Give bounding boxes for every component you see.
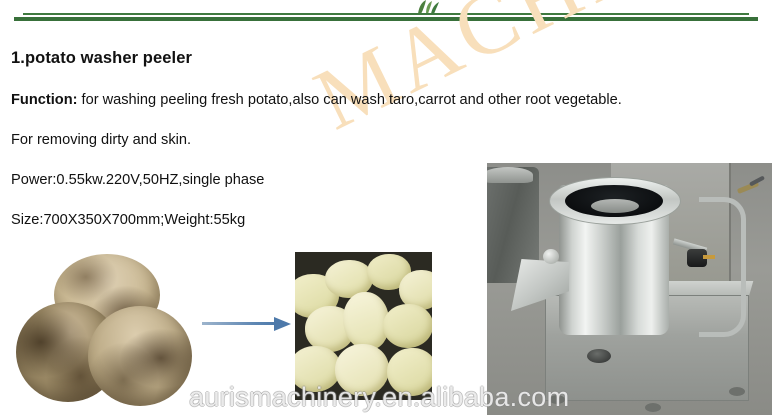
removing-line: For removing dirty and skin. bbox=[11, 132, 191, 148]
header-divider bbox=[0, 0, 772, 30]
machine-foot bbox=[549, 395, 565, 404]
arrow-shaft bbox=[202, 322, 278, 325]
page-title: 1.potato washer peeler bbox=[11, 49, 192, 68]
function-line: Function: for washing peeling fresh pota… bbox=[11, 92, 622, 108]
potato-shape bbox=[88, 306, 192, 406]
machine-drain-port bbox=[587, 349, 611, 363]
machine-foot bbox=[645, 403, 661, 412]
arrow-head bbox=[274, 317, 291, 331]
machine-knob bbox=[543, 249, 559, 264]
divider-thick-line bbox=[14, 17, 758, 21]
function-label: Function: bbox=[11, 92, 77, 108]
raw-potatoes-image bbox=[14, 248, 200, 408]
peeled-potatoes-image bbox=[295, 252, 432, 400]
product-description-page: MACHINERY 1.potato washer peeler Functio… bbox=[0, 0, 772, 415]
machine-drum-inner-plate bbox=[591, 199, 639, 213]
power-line: Power:0.55kw.220V,50HZ,single phase bbox=[11, 172, 264, 188]
machine-valve-tip bbox=[703, 255, 715, 259]
leaf-icon bbox=[414, 0, 440, 14]
peeled-potato-shape bbox=[387, 348, 432, 396]
peeled-potato-shape bbox=[343, 292, 389, 350]
size-line: Size:700X350X700mm;Weight:55kg bbox=[11, 212, 245, 228]
function-text: for washing peeling fresh potato,also ca… bbox=[77, 92, 621, 108]
divider-thin-line bbox=[23, 13, 749, 15]
peeled-potato-shape bbox=[383, 304, 432, 348]
machine-image bbox=[487, 163, 772, 415]
adjacent-machine-lid bbox=[487, 167, 533, 183]
peeled-potato-shape bbox=[335, 344, 389, 396]
machine-handle bbox=[699, 197, 746, 337]
machine-foot bbox=[729, 387, 745, 396]
process-arrow-icon bbox=[202, 316, 294, 332]
